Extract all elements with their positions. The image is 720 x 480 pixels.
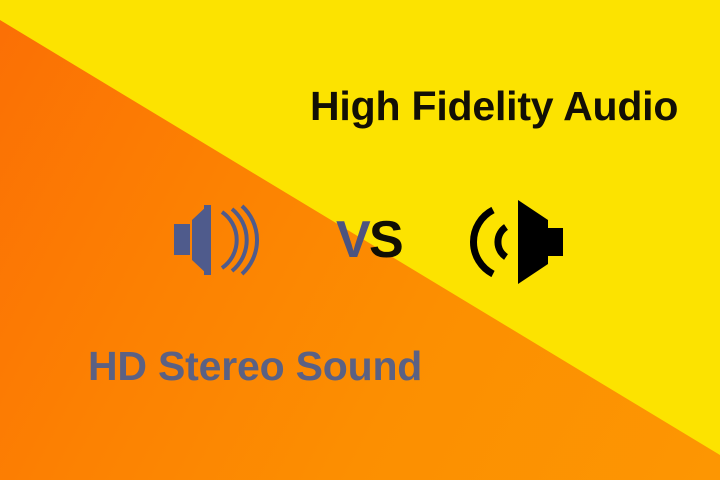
speaker-right-facing-icon — [462, 196, 566, 288]
versus-letter-s: S — [369, 210, 404, 270]
speaker-left-facing-icon — [172, 202, 264, 278]
high-fidelity-audio-title: High Fidelity Audio — [310, 86, 678, 127]
versus-letter-v: V — [336, 210, 371, 270]
comparison-banner: High Fidelity Audio V S — [0, 0, 720, 480]
hd-stereo-sound-title: HD Stereo Sound — [88, 346, 422, 387]
versus-badge: V S — [336, 210, 408, 272]
